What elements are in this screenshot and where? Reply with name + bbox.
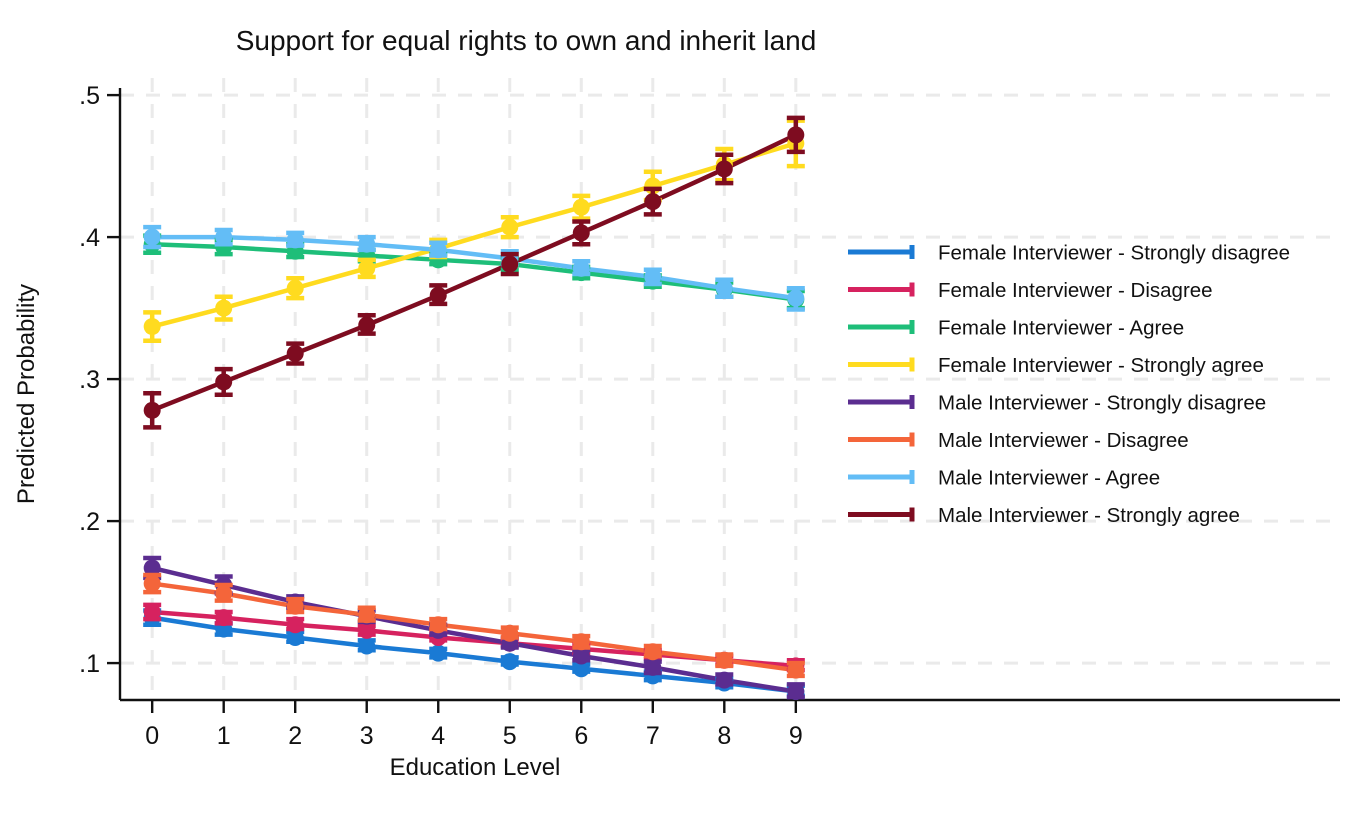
data-point-marker: [716, 672, 733, 689]
legend-label: Male Interviewer - Strongly agree: [938, 504, 1240, 527]
data-point-marker: [430, 616, 447, 633]
data-point-marker: [215, 585, 232, 602]
data-point-marker: [358, 606, 375, 623]
x-tick-label: 2: [288, 722, 302, 750]
legend-label: Female Interviewer - Strongly disagree: [938, 242, 1290, 265]
data-point-marker: [573, 199, 590, 216]
y-axis-title: Predicted Probability: [13, 284, 40, 504]
data-point-marker: [716, 652, 733, 669]
legend-label: Female Interviewer - Strongly agree: [938, 354, 1264, 377]
data-point-marker: [358, 638, 375, 655]
data-point-marker: [358, 236, 375, 253]
y-tick-label: .1: [79, 650, 100, 678]
data-point-marker: [358, 260, 375, 277]
x-axis-title: Education Level: [390, 754, 561, 781]
data-point-marker: [144, 229, 161, 246]
data-point-marker: [716, 160, 733, 177]
data-point-marker: [358, 317, 375, 334]
data-point-marker: [287, 345, 304, 362]
data-point-marker: [430, 241, 447, 258]
data-point-marker: [144, 318, 161, 335]
data-point-marker: [430, 287, 447, 304]
x-tick-label: 9: [789, 722, 803, 750]
data-point-marker: [501, 653, 518, 670]
data-point-marker: [787, 662, 804, 679]
x-tick-label: 5: [503, 722, 517, 750]
data-point-marker: [501, 625, 518, 642]
x-tick-label: 0: [145, 722, 159, 750]
data-point-marker: [287, 231, 304, 248]
x-tick-label: 8: [717, 722, 731, 750]
data-point-marker: [644, 268, 661, 285]
y-tick-label: .4: [79, 224, 100, 252]
legend-label: Male Interviewer - Agree: [938, 467, 1160, 490]
data-point-marker: [144, 603, 161, 620]
data-point-marker: [573, 260, 590, 277]
x-tick-label: 1: [217, 722, 231, 750]
data-point-marker: [573, 633, 590, 650]
data-point-marker: [287, 616, 304, 633]
data-point-marker: [430, 645, 447, 662]
x-tick-label: 7: [646, 722, 660, 750]
data-point-marker: [644, 193, 661, 210]
data-point-marker: [501, 219, 518, 236]
chart-title: Support for equal rights to own and inhe…: [236, 25, 817, 56]
data-point-marker: [144, 575, 161, 592]
data-point-marker: [573, 224, 590, 241]
data-point-marker: [644, 643, 661, 660]
legend-label: Male Interviewer - Disagree: [938, 429, 1189, 452]
data-point-marker: [501, 256, 518, 273]
legend-label: Female Interviewer - Disagree: [938, 279, 1213, 302]
data-point-marker: [787, 126, 804, 143]
data-point-marker: [787, 290, 804, 307]
data-point-marker: [215, 609, 232, 626]
data-point-marker: [144, 402, 161, 419]
y-tick-label: .3: [79, 366, 100, 394]
x-tick-label: 6: [574, 722, 588, 750]
data-point-marker: [215, 373, 232, 390]
data-point-marker: [215, 300, 232, 317]
y-tick-label: .2: [79, 508, 100, 536]
x-tick-label: 4: [431, 722, 445, 750]
predicted-probability-line-chart: .1.2.3.4.5 0123456789 Support for equal …: [0, 0, 1369, 821]
x-tick-label: 3: [360, 722, 374, 750]
data-point-marker: [287, 280, 304, 297]
legend-label: Male Interviewer - Strongly disagree: [938, 392, 1266, 415]
data-point-marker: [644, 659, 661, 676]
legend-label: Female Interviewer - Agree: [938, 317, 1184, 340]
data-point-marker: [215, 229, 232, 246]
data-point-marker: [787, 683, 804, 700]
chart-figure: .1.2.3.4.5 0123456789 Support for equal …: [0, 0, 1369, 821]
y-tick-label: .5: [79, 82, 100, 110]
data-point-marker: [287, 598, 304, 615]
data-point-marker: [716, 280, 733, 297]
